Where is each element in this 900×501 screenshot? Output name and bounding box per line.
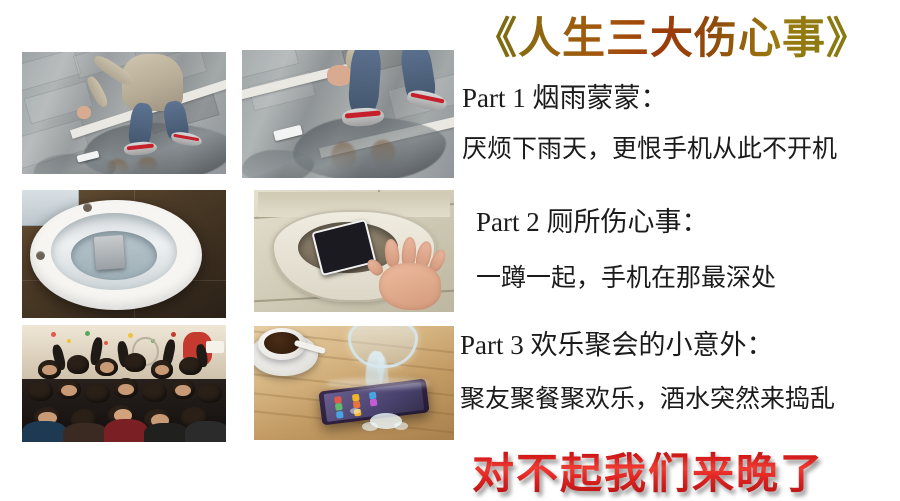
bottom-red-text: 对不起我们来晚了	[472, 440, 824, 501]
slide-title: 《人生三大伤心事》	[474, 4, 870, 66]
photo-toilet-western-scene	[22, 190, 226, 318]
part-2-body: 一蹲一起，手机在那最深处	[476, 258, 776, 294]
photo-party-crowd-scene	[22, 325, 226, 442]
photo-party-crowd	[22, 325, 226, 442]
photo-water-spill-scene	[254, 326, 454, 440]
photo-water-spill	[254, 326, 454, 440]
photo-rain-2	[242, 50, 454, 178]
part-1-body: 厌烦下雨天，更恨手机从此不开机	[462, 129, 837, 165]
slide-canvas: 《人生三大伤心事》 Part 1 烟雨蒙蒙： 厌烦下雨天，更恨手机从此不开机 P…	[0, 0, 900, 500]
photo-rain-1	[22, 52, 226, 174]
photo-toilet-squat	[254, 190, 454, 312]
part-2-heading: Part 2 厕所伤心事：	[476, 200, 709, 239]
part-1-heading: Part 1 烟雨蒙蒙：	[462, 76, 668, 115]
photo-rain-2-scene	[242, 50, 454, 178]
part-3-body: 聚友聚餐聚欢乐，酒水突然来捣乱	[460, 379, 835, 415]
part-3-heading: Part 3 欢乐聚会的小意外：	[460, 323, 774, 362]
photo-rain-1-scene	[22, 52, 226, 174]
photo-toilet-western	[22, 190, 226, 318]
photo-toilet-squat-scene	[254, 190, 454, 312]
